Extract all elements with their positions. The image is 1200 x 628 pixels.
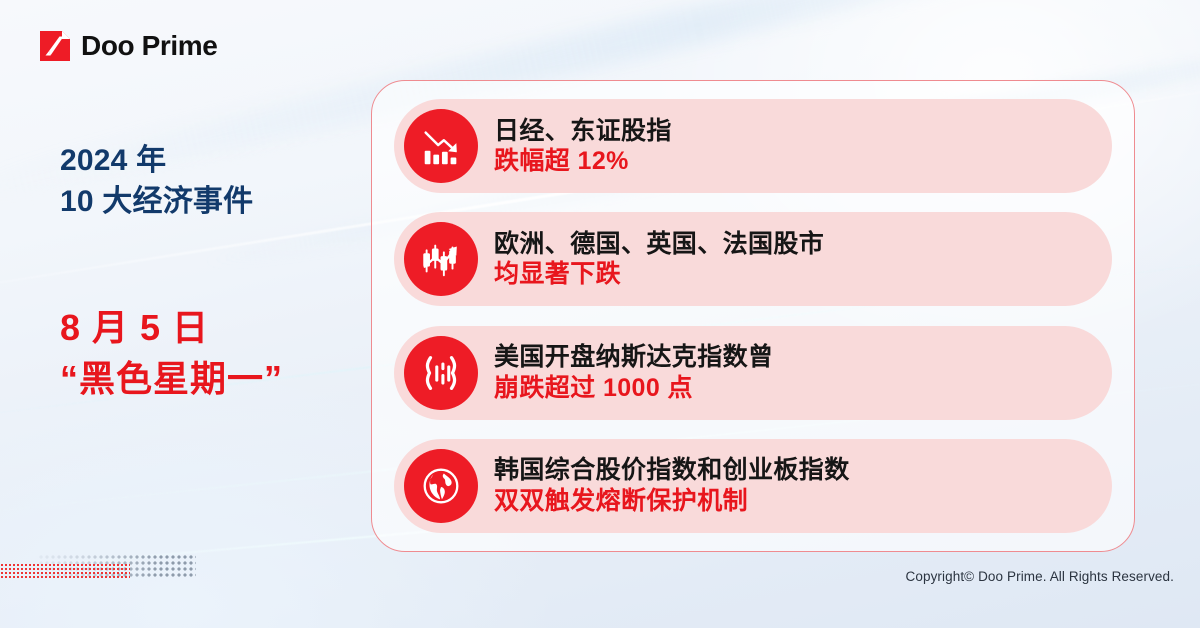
copyright-notice: Copyright© Doo Prime. All Rights Reserve… (906, 569, 1175, 584)
infographic-canvas: Doo Prime 2024 年 10 大经济事件 8 月 5 日 “黑色星期一… (0, 0, 1200, 628)
list-item-title: 美国开盘纳斯达克指数曾 (494, 343, 773, 371)
brand-name: Doo Prime (81, 32, 217, 60)
falling-bar-chart-icon (404, 109, 478, 183)
list-item-highlight: 跌幅超 12% (494, 147, 629, 175)
list-item-title: 韩国综合股价指数和创业板指数 (494, 456, 850, 484)
list-item-title: 日经、东证股指 (494, 117, 672, 145)
list-item-highlight: 崩跌超过 1000 点 (494, 374, 693, 402)
list-item[interactable]: 欧洲、德国、英国、法国股市 均显著下跌 (394, 212, 1112, 306)
candlestick-chart-icon (404, 222, 478, 296)
list-item[interactable]: 日经、东证股指 跌幅超 12% (394, 99, 1112, 193)
globe-icon (404, 449, 478, 523)
list-item-title: 欧洲、德国、英国、法国股市 (494, 230, 824, 258)
events-card: 日经、东证股指 跌幅超 12% (371, 80, 1135, 552)
halftone-red-dots (0, 563, 130, 579)
page-title-year: 2024 年 10 大经济事件 (60, 140, 253, 222)
list-item-highlight: 双双触发熔断保护机制 (494, 487, 748, 515)
volatility-squeeze-icon (404, 336, 478, 410)
brand-logo: Doo Prime (40, 31, 217, 61)
page-title-event: 8 月 5 日 “黑色星期一” (60, 302, 283, 404)
halftone-decoration (0, 552, 196, 580)
doo-prime-logo-mark-icon (40, 31, 70, 61)
list-item[interactable]: 美国开盘纳斯达克指数曾 崩跌超过 1000 点 (394, 326, 1112, 420)
list-item[interactable]: 韩国综合股价指数和创业板指数 双双触发熔断保护机制 (394, 439, 1112, 533)
list-item-highlight: 均显著下跌 (494, 260, 621, 288)
